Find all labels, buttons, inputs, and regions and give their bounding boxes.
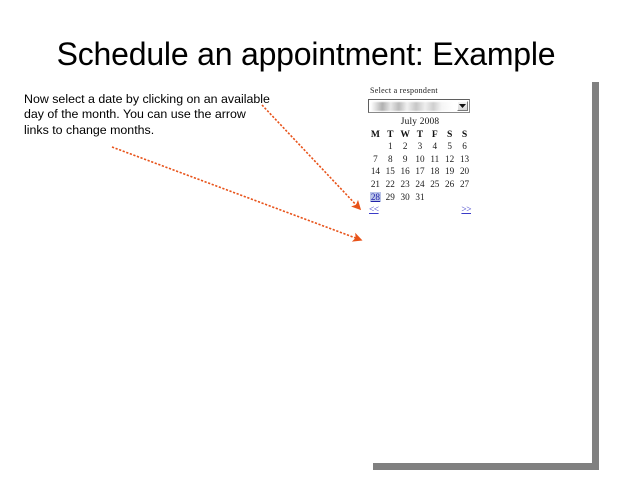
calendar-week-row: 14 15 16 17 18 19 20 <box>368 165 472 178</box>
calendar-day-cell[interactable]: 29 <box>383 190 398 203</box>
calendar-day-cell[interactable]: 5 <box>442 140 457 153</box>
calendar-day-cell[interactable]: 7 <box>368 153 383 166</box>
calendar-weekday: T <box>383 128 398 140</box>
calendar-month-label: July 2008 <box>368 117 472 128</box>
respondent-dropdown-value <box>371 102 453 111</box>
calendar-weekday: S <box>457 128 472 140</box>
calendar-day-cell[interactable]: 19 <box>442 165 457 178</box>
calendar-day-cell <box>427 190 442 203</box>
calendar-day-cell[interactable]: 25 <box>427 178 442 191</box>
calendar-grid: M T W T F S S 1 2 3 4 <box>368 128 472 203</box>
calendar-day-cell[interactable]: 23 <box>398 178 413 191</box>
next-month-link[interactable]: >> <box>461 205 471 215</box>
calendar-weekday: S <box>442 128 457 140</box>
calendar-day-cell[interactable]: 15 <box>383 165 398 178</box>
calendar-day-cell <box>457 190 472 203</box>
calendar-weekday: M <box>368 128 383 140</box>
calendar-day-cell[interactable]: 20 <box>457 165 472 178</box>
slide-shadow-bottom <box>373 463 599 470</box>
calendar-day-cell[interactable]: 11 <box>427 153 442 166</box>
calendar-weekday: T <box>413 128 428 140</box>
calendar-day-cell <box>442 190 457 203</box>
calendar-day-cell[interactable]: 26 <box>442 178 457 191</box>
calendar-day-cell[interactable]: 24 <box>413 178 428 191</box>
calendar-day-cell-selected[interactable]: 28 <box>368 190 383 203</box>
calendar-day-cell[interactable]: 9 <box>398 153 413 166</box>
calendar-day-cell[interactable]: 14 <box>368 165 383 178</box>
arrow-to-month-links <box>112 147 361 240</box>
slide-shadow-right <box>592 82 599 464</box>
calendar-selected-day-label: 28 <box>370 192 381 202</box>
calendar-week-row: 7 8 9 10 11 12 13 <box>368 153 472 166</box>
calendar-day-cell[interactable]: 1 <box>383 140 398 153</box>
instruction-text: Now select a date by clicking on an avai… <box>24 92 272 138</box>
calendar-day-cell[interactable]: 6 <box>457 140 472 153</box>
appointment-widget: Select a respondent July 2008 M T W T <box>368 86 478 218</box>
calendar-day-cell[interactable]: 13 <box>457 153 472 166</box>
calendar-day-cell[interactable]: 3 <box>413 140 428 153</box>
page-title: Schedule an appointment: Example <box>0 36 612 73</box>
calendar-day-cell[interactable]: 30 <box>398 190 413 203</box>
calendar-day-cell[interactable]: 17 <box>413 165 428 178</box>
calendar-week-row: 28 29 30 31 <box>368 190 472 203</box>
calendar-navigation: << >> <box>368 205 472 218</box>
chevron-down-icon[interactable] <box>457 101 468 111</box>
calendar-day-cell[interactable]: 4 <box>427 140 442 153</box>
calendar-widget: July 2008 M T W T F S S <box>368 117 472 218</box>
calendar-day-cell[interactable]: 16 <box>398 165 413 178</box>
calendar-day-cell[interactable]: 31 <box>413 190 428 203</box>
arrow-to-day-grid <box>262 105 360 209</box>
calendar-weekday: F <box>427 128 442 140</box>
calendar-day-cell[interactable]: 2 <box>398 140 413 153</box>
calendar-day-cell[interactable]: 21 <box>368 178 383 191</box>
calendar-weekday-row: M T W T F S S <box>368 128 472 140</box>
previous-month-link[interactable]: << <box>369 205 379 215</box>
calendar-day-cell[interactable]: 22 <box>383 178 398 191</box>
calendar-weekday: W <box>398 128 413 140</box>
calendar-day-cell[interactable]: 8 <box>383 153 398 166</box>
calendar-day-cell[interactable]: 27 <box>457 178 472 191</box>
calendar-day-cell[interactable]: 10 <box>413 153 428 166</box>
calendar-day-cell[interactable]: 12 <box>442 153 457 166</box>
slide-canvas: Schedule an appointment: Example Now sel… <box>0 0 640 480</box>
respondent-label: Select a respondent <box>370 86 478 95</box>
calendar-day-cell <box>368 140 383 153</box>
calendar-week-row: 1 2 3 4 5 6 <box>368 140 472 153</box>
respondent-dropdown[interactable] <box>368 99 470 113</box>
calendar-day-cell[interactable]: 18 <box>427 165 442 178</box>
calendar-week-row: 21 22 23 24 25 26 27 <box>368 178 472 191</box>
